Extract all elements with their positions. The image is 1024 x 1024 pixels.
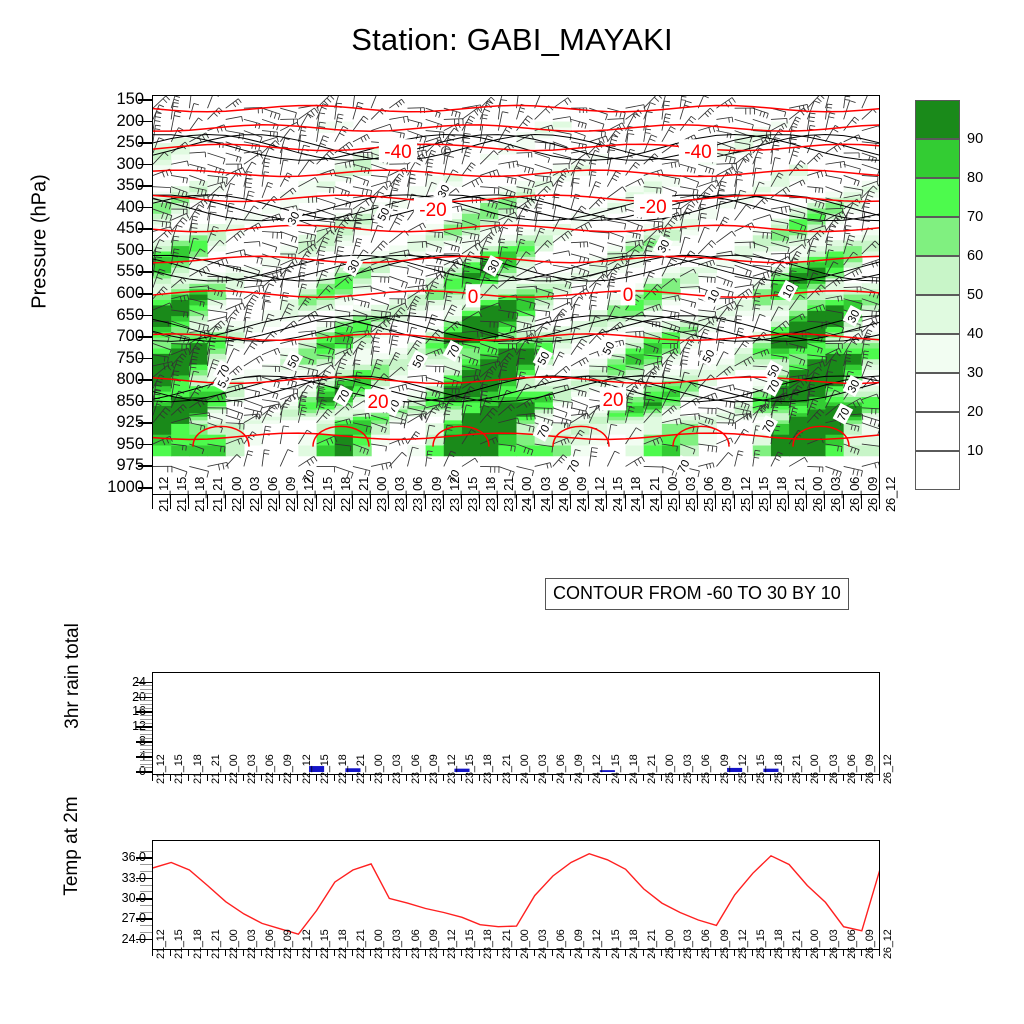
time-tick [788,495,789,509]
pressure-axis-label: Pressure (hPa) [29,92,52,392]
time-tick-label: 25_18 [775,477,788,512]
time-tick [661,775,662,781]
time-tick [643,950,644,956]
time-tick [334,950,335,956]
time-tick [770,495,771,509]
time-tick [588,950,589,956]
time-tick-label: 24_06 [556,754,567,784]
rain-tick [136,682,152,684]
pressure-tick [138,379,152,381]
time-tick-label: 23_00 [374,929,385,959]
time-tick-label: 26_09 [866,477,879,512]
time-tick [588,495,589,509]
time-tick-label: 26_09 [865,754,876,784]
time-tick-label: 24_03 [538,929,549,959]
time-tick-label: 24_09 [574,754,585,784]
time-tick-label: 25_21 [792,929,803,959]
rain-minor-tick [140,730,152,731]
time-tick-label: 21_21 [211,754,222,784]
time-tick [497,775,498,781]
time-tick [824,495,825,509]
time-tick [170,775,171,781]
time-tick [861,495,862,509]
contour-x-axis: 21_1221_1521_1821_2122_0022_0322_0622_09… [152,495,880,585]
time-tick [516,950,517,956]
pressure-tick [138,358,152,360]
temp-minor-tick [140,905,152,906]
temp-panel[interactable] [152,840,880,950]
time-tick [697,775,698,781]
time-tick [479,495,480,509]
time-tick-label: 24_12 [592,754,603,784]
time-tick [697,495,698,509]
time-tick [261,775,262,781]
time-tick [643,775,644,781]
time-tick [388,775,389,781]
time-tick [679,495,680,509]
pressure-tick [138,121,152,123]
rain-minor-tick [140,719,152,720]
pressure-tick [138,315,152,317]
time-tick-label: 23_06 [411,754,422,784]
time-tick-label: 22_00 [230,477,243,512]
rain-minor-tick [140,700,152,701]
time-tick-label: 25_09 [720,754,731,784]
time-tick [406,775,407,781]
rain-tick [136,726,152,728]
time-tick-label: 26_06 [848,477,861,512]
contour-plot-svg: 5030303030303030301010105050505050505030… [153,96,880,495]
temp-minor-tick [140,932,152,933]
rain-minor-tick [140,708,152,709]
colorbar-label: 90 [967,132,983,147]
contour-note: CONTOUR FROM -60 TO 30 BY 10 [545,578,849,610]
time-tick-label: 22_15 [320,754,331,784]
time-tick [316,950,317,956]
time-tick-label: 23_00 [374,754,385,784]
pressure-tick [138,293,152,295]
time-tick [261,950,262,956]
time-tick-label: 25_00 [665,929,676,959]
time-tick-label: 24_15 [611,477,624,512]
time-tick-label: 24_06 [557,477,570,512]
time-tick [534,495,535,509]
time-tick-label: 25_12 [739,477,752,512]
time-tick [406,495,407,509]
time-tick-label: 22_03 [247,754,258,784]
time-tick [570,775,571,781]
pressure-tick [138,228,152,230]
time-tick [861,950,862,956]
time-tick [734,775,735,781]
time-tick [479,950,480,956]
time-tick [679,775,680,781]
time-tick [188,775,189,781]
time-tick-label: 21_21 [211,929,222,959]
rain-minor-tick [140,760,152,761]
time-tick [625,950,626,956]
time-tick [534,775,535,781]
time-tick-label: 24_18 [629,754,640,784]
time-tick [406,950,407,956]
time-tick [188,495,189,509]
time-tick-label: 25_15 [756,929,767,959]
rain-minor-tick [140,693,152,694]
time-tick [734,495,735,509]
temp-tick [136,939,152,941]
time-tick [352,950,353,956]
time-tick-label: 26_09 [865,929,876,959]
colorbar-swatch[interactable] [915,217,960,256]
time-tick-label: 24_00 [520,754,531,784]
time-tick-label: 21_15 [175,477,188,512]
time-tick [479,775,480,781]
time-tick-label: 21_15 [174,754,185,784]
time-tick [879,950,880,956]
time-tick [697,950,698,956]
time-tick [443,950,444,956]
time-tick [152,775,153,781]
colorbar-label: 70 [967,210,983,225]
time-tick-label: 21_12 [156,929,167,959]
time-tick [679,950,680,956]
time-tick [770,950,771,956]
time-tick-label: 23_21 [502,929,513,959]
time-tick [316,775,317,781]
time-tick [188,950,189,956]
time-tick-label: 22_09 [283,929,294,959]
time-tick [297,950,298,956]
time-tick-label: 25_18 [774,754,785,784]
time-tick-label: 24_12 [593,477,606,512]
time-tick-label: 22_12 [302,754,313,784]
time-tick-label: 24_03 [539,477,552,512]
time-tick-label: 23_03 [392,754,403,784]
rain-minor-tick [140,767,152,768]
time-tick-label: 23_12 [448,477,461,512]
time-tick [715,775,716,781]
time-tick [243,950,244,956]
time-tick-label: 23_21 [502,477,515,512]
rain-tickmarks [126,672,152,775]
time-tick [170,950,171,956]
time-tick-label: 22_18 [338,929,349,959]
time-tick-label: 22_15 [320,929,331,959]
time-tick-label: 23_12 [447,754,458,784]
colorbar-label: 10 [967,444,983,459]
temp-tick [136,857,152,859]
time-tick [279,775,280,781]
time-tick-label: 22_00 [229,754,240,784]
time-tick [225,775,226,781]
time-tick [824,775,825,781]
colorbar-swatch[interactable] [915,100,960,139]
time-tick-label: 22_03 [247,929,258,959]
rain-minor-tick [140,734,152,735]
time-tick [225,950,226,956]
time-tick-label: 26_12 [883,929,894,959]
time-tick-label: 22_06 [266,477,279,512]
time-tick-label: 22_12 [302,929,313,959]
rain-minor-tick [140,704,152,705]
time-tick [516,775,517,781]
colorbar-swatch[interactable] [915,412,960,451]
temp-minor-tick [140,864,152,865]
contour-panel[interactable]: 5030303030303030301010105050505050505030… [152,95,880,495]
colorbar-label: 80 [967,171,983,186]
time-tick-label: 25_21 [792,754,803,784]
time-tick-label: 26_00 [811,477,824,512]
time-tick-label: 25_15 [756,754,767,784]
time-tick [643,495,644,509]
time-tick-label: 23_00 [375,477,388,512]
time-tick [279,495,280,509]
time-tick-label: 24_00 [520,929,531,959]
colorbar-swatch[interactable] [915,451,960,490]
pressure-tick [138,271,152,273]
pressure-tick [138,99,152,101]
time-tick [534,950,535,956]
time-tick [388,950,389,956]
time-tick [625,775,626,781]
time-tick [279,950,280,956]
time-tick [788,775,789,781]
time-tick-label: 23_12 [447,929,458,959]
time-tick-label: 22_06 [265,929,276,959]
time-tick-label: 22_09 [283,754,294,784]
colorbar-label: 40 [967,327,983,342]
temp-line-svg [153,841,880,950]
pressure-tick [138,250,152,252]
time-tick-label: 25_06 [702,477,715,512]
time-tick [297,495,298,509]
time-tick-label: 25_06 [701,929,712,959]
pressure-tick [138,487,152,489]
time-tick [370,775,371,781]
time-tick [806,950,807,956]
time-tick-label: 24_12 [592,929,603,959]
time-tick [770,775,771,781]
time-tick-label: 26_06 [847,929,858,959]
time-tick-label: 23_18 [483,754,494,784]
colorbar-swatch[interactable] [915,178,960,217]
time-tick-label: 23_06 [411,477,424,512]
time-tick-label: 23_15 [465,929,476,959]
time-tick [552,495,553,509]
pressure-tick [138,142,152,144]
time-tick [879,495,880,509]
time-tick [207,950,208,956]
time-tick [806,775,807,781]
colorbar-label: 20 [967,405,983,420]
time-tick [606,495,607,509]
time-tick [661,950,662,956]
temp-minor-tick [140,925,152,926]
time-tick-label: 26_00 [810,754,821,784]
time-tick-label: 23_15 [465,754,476,784]
time-tick-label: 23_09 [429,929,440,959]
time-tick [570,495,571,509]
time-tick [606,775,607,781]
time-tick-label: 22_21 [357,477,370,512]
time-tick [334,775,335,781]
time-tick-label: 24_09 [574,929,585,959]
rain-tick [136,697,152,699]
time-tick-label: 21_18 [193,477,206,512]
time-tick-label: 25_00 [666,477,679,512]
colorbar-swatch[interactable] [915,373,960,412]
time-tick-label: 24_03 [538,754,549,784]
time-tick [861,775,862,781]
time-tick-label: 24_18 [629,929,640,959]
time-tick-label: 25_09 [720,929,731,959]
pressure-tick [138,185,152,187]
time-tick-label: 21_18 [193,929,204,959]
rain-x-axis: 21_1221_1521_1821_2122_0022_0322_0622_09… [152,775,880,835]
colorbar-swatch[interactable] [915,139,960,178]
time-tick [843,495,844,509]
temp-tick [136,898,152,900]
rain-minor-tick [140,689,152,690]
time-tick [824,950,825,956]
time-tick-label: 24_15 [611,929,622,959]
time-tick-label: 23_21 [502,754,513,784]
rain-tick [136,756,152,758]
time-tick-label: 26_03 [829,929,840,959]
time-tick-label: 22_06 [265,754,276,784]
time-tick [843,775,844,781]
time-tick-label: 24_21 [647,929,658,959]
time-tick-label: 22_18 [338,754,349,784]
time-tick-label: 23_09 [430,477,443,512]
time-tick [552,775,553,781]
colorbar-swatch[interactable] [915,295,960,334]
rain-panel[interactable] [152,672,880,775]
time-tick [352,775,353,781]
pressure-tick [138,422,152,424]
rain-tick [136,741,152,743]
time-tick [843,950,844,956]
colorbar-label: 50 [967,288,983,303]
time-tick [425,950,426,956]
time-tick [661,495,662,509]
time-tick-label: 26_03 [829,477,842,512]
time-tick [388,495,389,509]
time-tick-label: 22_21 [356,754,367,784]
time-tick-label: 25_18 [774,929,785,959]
time-tick [461,950,462,956]
temp-minor-tick [140,851,152,852]
pressure-tick [138,207,152,209]
temp-minor-tick [140,891,152,892]
temp-minor-tick [140,871,152,872]
colorbar-swatch[interactable] [915,256,960,295]
time-tick-label: 23_15 [466,477,479,512]
rain-minor-tick [140,749,152,750]
time-tick-label: 25_12 [738,929,749,959]
time-tick [879,775,880,781]
colorbar[interactable]: 908070605040302010 [915,100,960,490]
rain-minor-tick [140,745,152,746]
time-tick-label: 22_21 [356,929,367,959]
time-tick [425,775,426,781]
time-tick [170,495,171,509]
pressure-tick [138,465,152,467]
time-tick [370,495,371,509]
time-tick-label: 25_06 [701,754,712,784]
time-tick [297,775,298,781]
time-tick [316,495,317,509]
time-tick [516,495,517,509]
time-tick-label: 21_21 [211,477,224,512]
rain-tick [136,711,152,713]
time-tick [715,950,716,956]
time-tick [570,950,571,956]
time-tick-label: 24_18 [629,477,642,512]
temp-x-axis: 21_1221_1521_1821_2122_0022_0322_0622_09… [152,950,880,1010]
time-tick [152,495,153,509]
time-tick-label: 23_03 [392,929,403,959]
time-tick [370,950,371,956]
rain-minor-tick [140,752,152,753]
temp-tickmarks [126,840,152,950]
time-tick-label: 25_00 [665,754,676,784]
time-tick [588,775,589,781]
time-tick-label: 25_21 [793,477,806,512]
time-tick-label: 26_03 [829,754,840,784]
rain-tick [136,771,152,773]
time-tick [207,495,208,509]
time-tick [788,950,789,956]
time-tick [261,495,262,509]
colorbar-label: 60 [967,249,983,264]
time-tick [461,775,462,781]
time-tick [225,495,226,509]
time-tick-label: 23_03 [393,477,406,512]
time-tick-label: 22_15 [321,477,334,512]
time-tick-label: 24_09 [575,477,588,512]
time-tick [734,950,735,956]
time-tick-label: 25_09 [720,477,733,512]
time-tick [715,495,716,509]
time-tick-label: 25_03 [684,477,697,512]
time-tick-label: 22_18 [339,477,352,512]
rain-minor-tick [140,738,152,739]
time-tick-label: 22_00 [229,929,240,959]
time-tick [752,775,753,781]
time-tick [461,495,462,509]
time-tick-label: 22_09 [284,477,297,512]
rain-bars-svg [153,673,880,775]
time-tick [497,495,498,509]
pressure-tick [138,444,152,446]
rain-minor-tick [140,685,152,686]
time-tick-label: 25_03 [683,754,694,784]
time-tick [243,775,244,781]
page-title: Station: GABI_MAYAKI [0,22,1024,58]
colorbar-swatch[interactable] [915,334,960,373]
rain-minor-tick [140,764,152,765]
time-tick [752,495,753,509]
time-tick-label: 24_00 [520,477,533,512]
time-tick [243,495,244,509]
time-tick-label: 22_03 [248,477,261,512]
time-tick-label: 26_12 [884,477,897,512]
time-tick [207,775,208,781]
time-tick-label: 23_18 [483,929,494,959]
pressure-tickmarks [132,95,152,495]
time-tick-label: 26_00 [810,929,821,959]
